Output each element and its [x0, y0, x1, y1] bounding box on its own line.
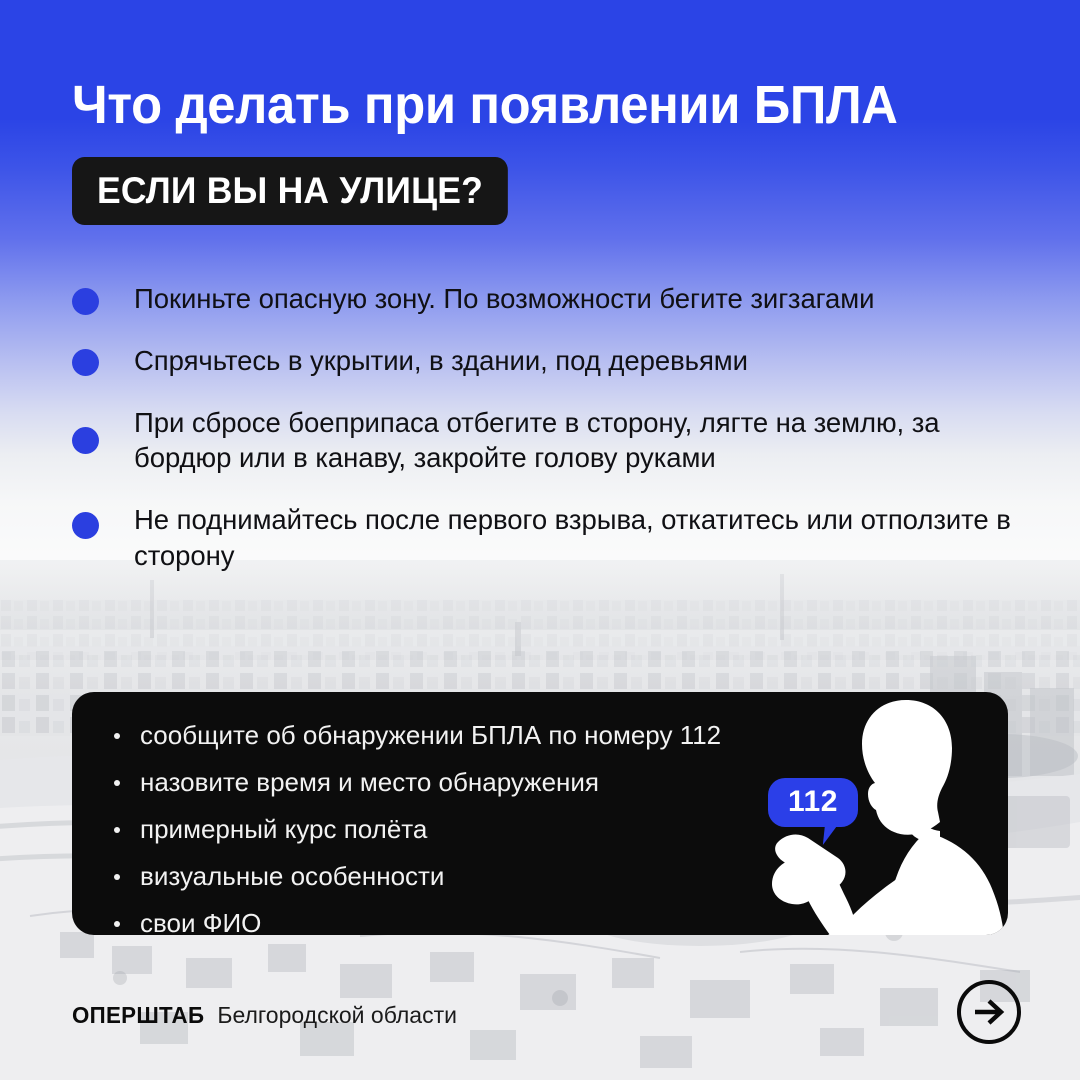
bullet-dot-icon	[114, 874, 120, 880]
report-instructions-card: сообщите об обнаружении БПЛА по номеру 1…	[72, 692, 1008, 935]
poster-header: Что делать при появлении БПЛА ЕСЛИ ВЫ НА…	[72, 78, 1022, 225]
list-item: визуальные особенности	[108, 863, 721, 889]
bullet-dot-icon	[72, 349, 99, 376]
bullet-dot-icon	[72, 288, 99, 315]
arrow-right-icon	[972, 997, 1006, 1027]
person-with-phone-silhouette-icon	[712, 692, 1008, 935]
report-item-text: свои ФИО	[140, 908, 261, 935]
report-item-text: назовите время и место обнаружения	[140, 767, 599, 797]
footer-brand: ОПЕРШТАБ Белгородской области	[72, 1002, 457, 1029]
bullet-dot-icon	[72, 427, 99, 454]
next-slide-button[interactable]	[957, 980, 1021, 1044]
bullet-dot-icon	[114, 921, 120, 927]
page-title: Что делать при появлении БПЛА	[72, 78, 965, 133]
list-item: Не поднимайтесь после первого взрыва, от…	[72, 502, 1032, 574]
tip-text: Покиньте опасную зону. По возможности бе…	[134, 281, 874, 317]
list-item: свои ФИО	[108, 910, 721, 935]
report-item-text: визуальные особенности	[140, 861, 444, 891]
list-item: сообщите об обнаружении БПЛА по номеру 1…	[108, 722, 721, 748]
brand-name: ОПЕРШТАБ	[72, 1002, 204, 1029]
bullet-dot-icon	[114, 827, 120, 833]
bullet-dot-icon	[114, 733, 120, 739]
speech-bubble-tail-icon	[823, 823, 839, 845]
bullet-dot-icon	[72, 512, 99, 539]
list-item: Покиньте опасную зону. По возможности бе…	[72, 281, 1032, 317]
emergency-number-speech-bubble: 112	[768, 778, 858, 827]
safety-tips-list: Покиньте опасную зону. По возможности бе…	[72, 281, 1032, 574]
infographic-poster: Что делать при появлении БПЛА ЕСЛИ ВЫ НА…	[0, 0, 1080, 1080]
report-item-text: сообщите об обнаружении БПЛА по номеру 1…	[140, 720, 721, 750]
list-item: назовите время и место обнаружения	[108, 769, 721, 795]
tip-text: Спрячьтесь в укрытии, в здании, под дере…	[134, 343, 748, 379]
brand-region: Белгородской области	[217, 1002, 457, 1029]
list-item: примерный курс полёта	[108, 816, 721, 842]
report-item-text: примерный курс полёта	[140, 814, 427, 844]
report-items-list: сообщите об обнаружении БПЛА по номеру 1…	[108, 722, 721, 935]
tip-text: Не поднимайтесь после первого взрыва, от…	[134, 502, 1024, 574]
subtitle-badge: ЕСЛИ ВЫ НА УЛИЦЕ?	[72, 157, 508, 225]
emergency-number-text: 112	[768, 778, 858, 827]
tip-text: При сбросе боеприпаса отбегите в сторону…	[134, 405, 1024, 477]
bullet-dot-icon	[114, 780, 120, 786]
list-item: При сбросе боеприпаса отбегите в сторону…	[72, 405, 1032, 477]
list-item: Спрячьтесь в укрытии, в здании, под дере…	[72, 343, 1032, 379]
